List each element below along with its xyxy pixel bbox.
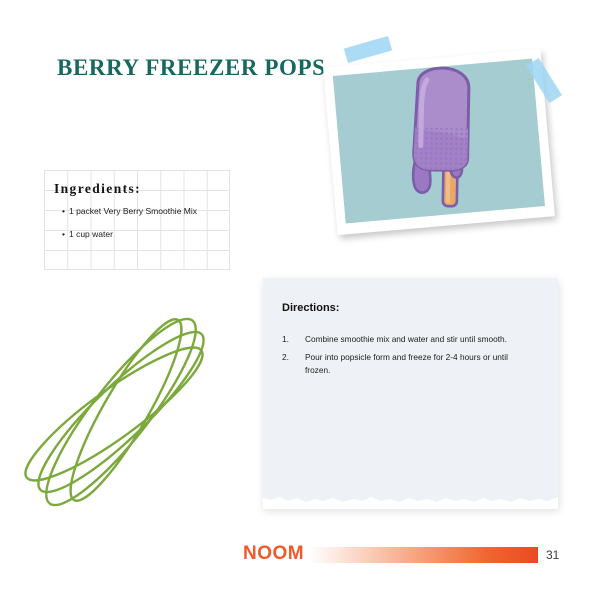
page-title: BERRY FREEZER POPS: [57, 55, 326, 81]
footer-gradient-bar: [309, 547, 538, 563]
ingredient-list: 1 packet Very Berry Smoothie Mix 1 cup w…: [52, 207, 222, 238]
step-number: 2.: [282, 351, 305, 377]
green-loops-decoration: [14, 292, 229, 532]
directions-card: Directions: 1. Combine smoothie mix and …: [263, 278, 558, 508]
torn-paper-edge: [263, 489, 558, 509]
list-item: 1 packet Very Berry Smoothie Mix: [62, 207, 222, 216]
list-item: 2. Pour into popsicle form and freeze fo…: [282, 351, 538, 377]
popsicle-photo: [323, 49, 555, 235]
ingredients-card: Ingredients: 1 packet Very Berry Smoothi…: [44, 170, 230, 270]
step-number: 1.: [282, 333, 305, 346]
directions-list: 1. Combine smoothie mix and water and st…: [282, 333, 538, 377]
recipe-page: BERRY FREEZER POPS Ingredients: 1 packet…: [0, 0, 600, 600]
ingredients-content: Ingredients: 1 packet Very Berry Smoothi…: [44, 170, 230, 270]
polaroid-frame: [323, 49, 555, 235]
step-text: Pour into popsicle form and freeze for 2…: [305, 351, 538, 377]
photo-image-area: [333, 59, 545, 224]
footer-brand: NOOM: [243, 543, 304, 565]
list-item: 1 cup water: [62, 230, 222, 239]
list-item: 1. Combine smoothie mix and water and st…: [282, 333, 538, 346]
tape-left-icon: [344, 36, 392, 63]
popsicle-icon: [383, 65, 496, 217]
ingredients-heading: Ingredients:: [54, 181, 222, 197]
step-text: Combine smoothie mix and water and stir …: [305, 333, 538, 346]
directions-content: Directions: 1. Combine smoothie mix and …: [263, 278, 558, 382]
page-number: 31: [546, 548, 559, 562]
directions-heading: Directions:: [282, 302, 538, 314]
